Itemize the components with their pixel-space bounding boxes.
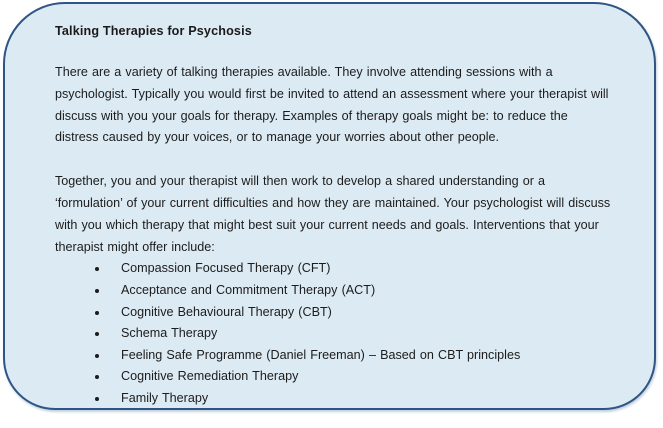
formulation-paragraph: Together, you and your therapist will th… bbox=[55, 171, 615, 258]
callout-content: Talking Therapies for Psychosis There ar… bbox=[55, 22, 615, 410]
intro-paragraph: There are a variety of talking therapies… bbox=[55, 62, 615, 149]
list-item-label: Compassion Focused Therapy (CFT) bbox=[121, 261, 330, 275]
list-item-label: Family Therapy bbox=[121, 391, 208, 405]
title-paragraph-spacer bbox=[55, 40, 615, 62]
therapies-list: Compassion Focused Therapy (CFT) Accepta… bbox=[55, 258, 615, 409]
list-item: Cognitive Behavioural Therapy (CBT) bbox=[55, 302, 615, 324]
list-item: Family Therapy bbox=[55, 388, 615, 410]
list-item-label: Cognitive Behavioural Therapy (CBT) bbox=[121, 305, 332, 319]
bullet-dot-icon bbox=[95, 289, 99, 293]
bullet-dot-icon bbox=[95, 354, 99, 358]
list-item: Feeling Safe Programme (Daniel Freeman) … bbox=[55, 345, 615, 367]
bullet-dot-icon bbox=[95, 332, 99, 336]
screenshot-root: Talking Therapies for Psychosis There ar… bbox=[0, 0, 663, 428]
talking-therapies-callout-box: Talking Therapies for Psychosis There ar… bbox=[3, 2, 656, 410]
bullet-dot-icon bbox=[95, 397, 99, 401]
list-item: Cognitive Remediation Therapy bbox=[55, 366, 615, 388]
paragraph-spacer bbox=[55, 149, 615, 171]
bullet-dot-icon bbox=[95, 267, 99, 271]
list-item-label: Feeling Safe Programme (Daniel Freeman) … bbox=[121, 348, 520, 362]
list-item-label: Acceptance and Commitment Therapy (ACT) bbox=[121, 283, 375, 297]
bullet-dot-icon bbox=[95, 375, 99, 379]
list-item: Schema Therapy bbox=[55, 323, 615, 345]
list-item: Acceptance and Commitment Therapy (ACT) bbox=[55, 280, 615, 302]
list-item-label: Schema Therapy bbox=[121, 326, 217, 340]
list-item: Compassion Focused Therapy (CFT) bbox=[55, 258, 615, 280]
bullet-dot-icon bbox=[95, 311, 99, 315]
list-item-label: Cognitive Remediation Therapy bbox=[121, 369, 298, 383]
page-title: Talking Therapies for Psychosis bbox=[55, 22, 615, 40]
